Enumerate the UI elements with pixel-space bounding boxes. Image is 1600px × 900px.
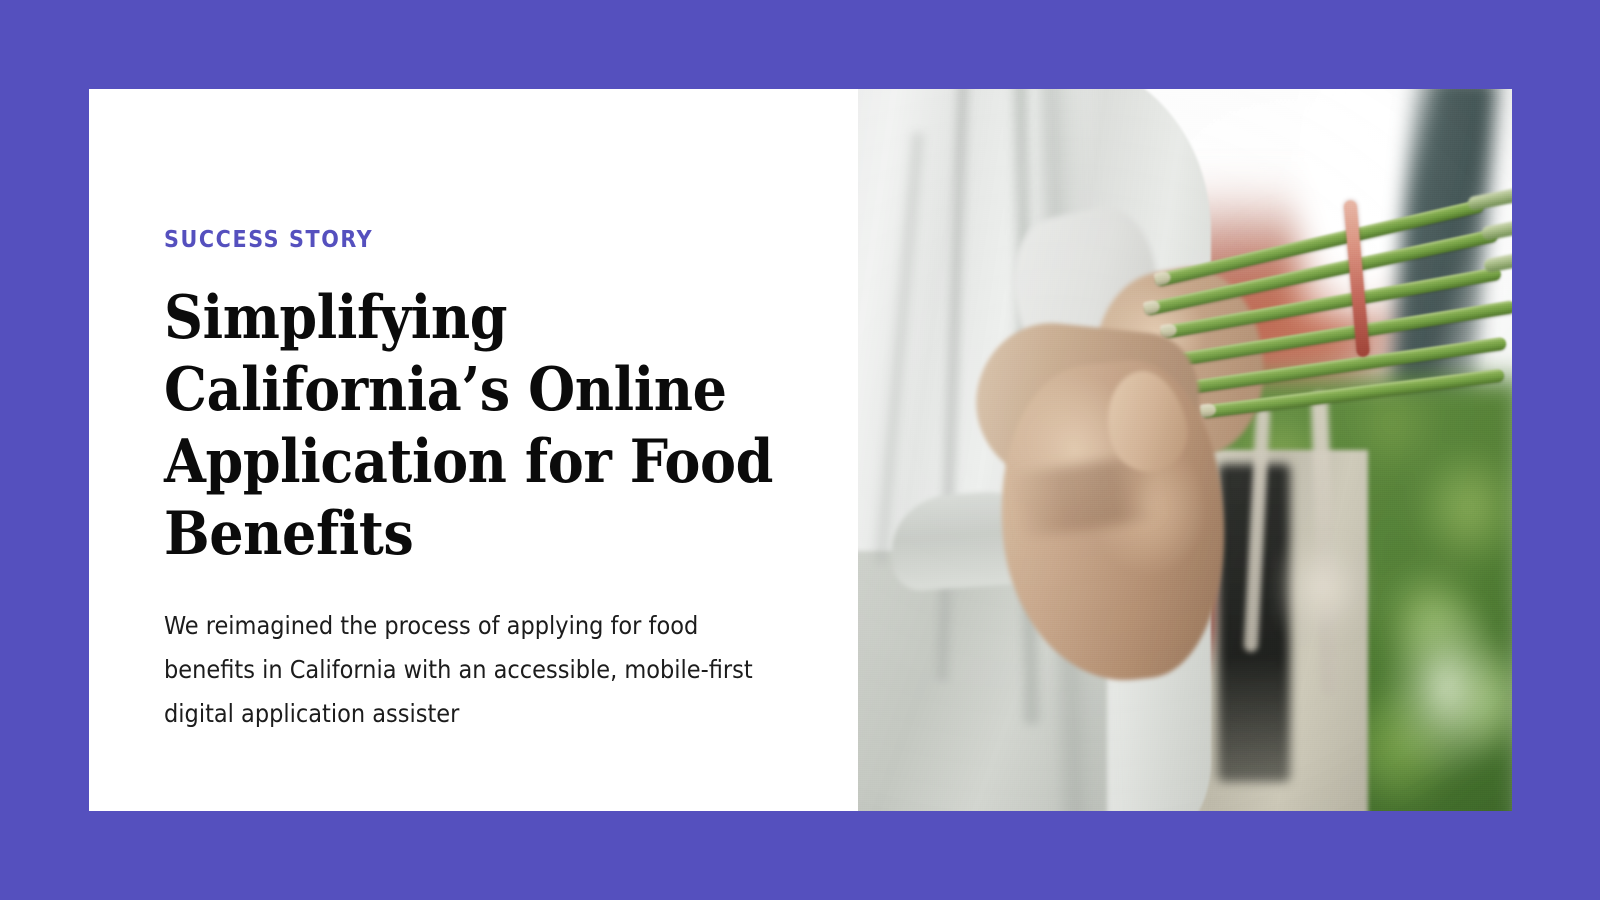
card-description: We reimagined the process of applying fo… xyxy=(164,570,774,736)
card-photo-column xyxy=(858,89,1512,811)
photo-leafy-greens-highlight xyxy=(1381,594,1512,782)
photo-tote-bag-fold xyxy=(1277,537,1369,638)
photo-asparagus-tip xyxy=(1481,217,1512,241)
farmers-market-photo xyxy=(858,89,1512,811)
eyebrow-label: SUCCESS STORY xyxy=(164,89,788,252)
photo-asparagus-tip xyxy=(1483,249,1512,273)
photo-asparagus-spear xyxy=(1149,300,1512,371)
page-title: Simplifying California’s Online Applicat… xyxy=(164,252,788,570)
card-text-column: SUCCESS STORY Simplifying California’s O… xyxy=(89,89,858,811)
page-backdrop: SUCCESS STORY Simplifying California’s O… xyxy=(0,0,1600,900)
photo-asparagus-tip xyxy=(1467,187,1512,211)
success-story-card: SUCCESS STORY Simplifying California’s O… xyxy=(89,89,1512,811)
